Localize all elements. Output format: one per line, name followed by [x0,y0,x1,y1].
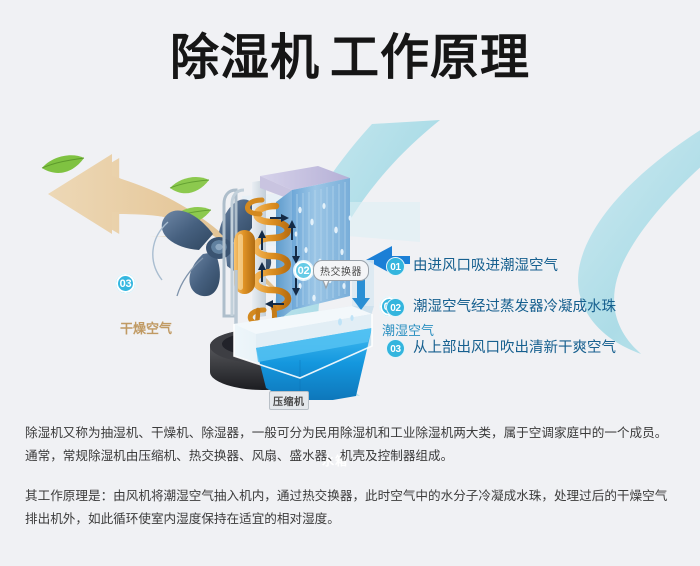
page-title-part-a: 除湿机 [170,31,320,85]
label-compressor: 压缩机 [269,391,309,410]
diagram-badge-03: 03 [115,273,136,294]
callout-badge-02: 02 [386,298,405,317]
callout-text-01: 由进风口吸进潮湿空气 [413,256,558,276]
diagram-badge-02: 02 [293,260,314,281]
label-heat-exchanger: 热交换器 [313,260,369,281]
callout-item: 01 由进风口吸进潮湿空气 [386,256,686,297]
paragraph-1-line-2: 通常，常规除湿机由压缩机、热交换器、风扇、盛水器、机壳及控制器组成。 [25,445,680,468]
paragraph-1-line-1: 除湿机又称为抽湿机、干燥机、除湿器，一般可分为民用除湿机和工业除湿机两大类，属于… [25,422,680,445]
callout-badge-03: 03 [386,339,405,358]
callout-text-02: 潮湿空气经过蒸发器冷凝成水珠 [413,297,616,317]
paragraph-2-line-2: 排出机外，如此循环使室内湿度保持在适宜的相对湿度。 [25,508,680,531]
callout-item: 03 从上部出风口吹出清新干爽空气 [386,338,686,379]
callout-item: 02 潮湿空气经过蒸发器冷凝成水珠 [386,297,686,338]
callout-badge-01: 01 [386,257,405,276]
description-block: 除湿机又称为抽湿机、干燥机、除湿器，一般可分为民用除湿机和工业除湿机两大类，属于… [25,422,680,531]
paragraph-spacer [25,468,680,485]
page-title: 除湿机工作原理 [0,32,700,86]
callout-list: 01 由进风口吸进潮湿空气 02 潮湿空气经过蒸发器冷凝成水珠 03 从上部出风… [386,256,686,379]
paragraph-2-line-1: 其工作原理是：由风机将潮湿空气抽入机内，通过热交换器，此时空气中的水分子冷凝成水… [25,485,680,508]
label-dry-air: 干燥空气 [120,318,172,337]
callout-text-03: 从上部出风口吹出清新干爽空气 [413,338,616,358]
page-title-part-b: 工作原理 [330,31,530,85]
